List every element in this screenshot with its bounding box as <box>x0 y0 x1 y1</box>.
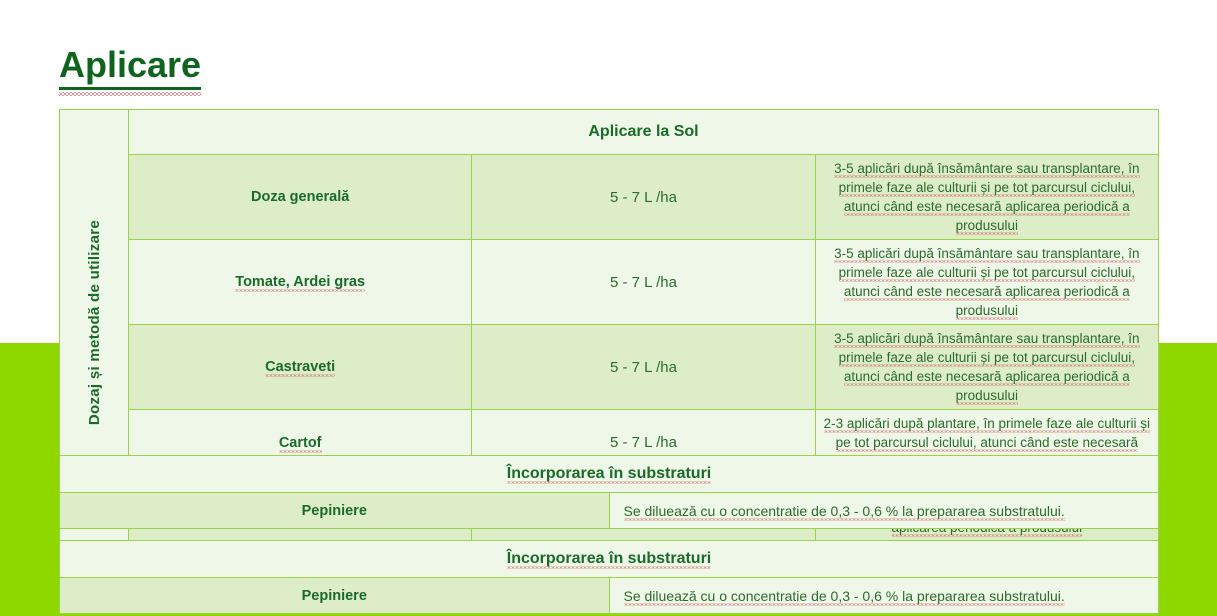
substrate-value-text: Se diluează cu o concentratie de 0,3 - 0… <box>624 588 1065 606</box>
description-cell: 3-5 aplicări după însământare sau transp… <box>815 240 1158 325</box>
substrate-value-cell-1: Se diluează cu o concentratie de 0,3 - 0… <box>609 493 1159 529</box>
crop-name-cell: Doza generală <box>129 155 472 240</box>
dose-cell: 5 - 7 L /ha <box>472 155 815 240</box>
table-row: Castraveti 5 - 7 L /ha 3-5 aplicări după… <box>60 325 1159 410</box>
table-row: Încorporarea în substraturi <box>60 456 1159 493</box>
description-text: 3-5 aplicări după însământare sau transp… <box>834 161 1139 235</box>
section-header-aplicare-la-sol: Aplicare la Sol <box>129 110 1159 155</box>
substrate-header-label: Încorporarea în substraturi <box>507 465 712 484</box>
crop-label: Doza generală <box>251 189 349 205</box>
dose-cell: 5 - 7 L /ha <box>472 325 815 410</box>
table-row: Tomate, Ardei gras 5 - 7 L /ha 3-5 aplic… <box>60 240 1159 325</box>
spellcheck-squiggle-title <box>59 92 201 96</box>
description-text: 3-5 aplicări după însământare sau transp… <box>834 246 1139 320</box>
description-cell: 3-5 aplicări după însământare sau transp… <box>815 325 1158 410</box>
description-cell: 3-5 aplicări după însământare sau transp… <box>815 155 1158 240</box>
table-row: Pepiniere Se diluează cu o concentratie … <box>60 578 1159 614</box>
dose-cell: 5 - 7 L /ha <box>472 240 815 325</box>
substrate-header-2: Încorporarea în substraturi <box>60 541 1159 578</box>
substrate-label-cell-1: Pepiniere <box>60 493 610 529</box>
table-row: Pepiniere Se diluează cu o concentratie … <box>60 493 1159 529</box>
substrate-header-label: Încorporarea în substraturi <box>507 550 712 569</box>
description-text: 3-5 aplicări după însământare sau transp… <box>834 331 1139 405</box>
crop-label: Castraveti <box>265 359 335 377</box>
substrate-header-1: Încorporarea în substraturi <box>60 456 1159 493</box>
substrate-table-2: Încorporarea în substraturi Pepiniere Se… <box>59 540 1159 614</box>
substrate-label-cell-2: Pepiniere <box>60 578 610 614</box>
substrate-table-1: Încorporarea în substraturi Pepiniere Se… <box>59 455 1159 529</box>
crop-label: Tomate, Ardei gras <box>235 274 365 292</box>
substrate-value-text: Se diluează cu o concentratie de 0,3 - 0… <box>624 503 1065 521</box>
table-row: Încorporarea în substraturi <box>60 541 1159 578</box>
crop-label: Cartof <box>279 435 322 453</box>
vertical-header-label: Dozaj și metodă de utilizare <box>86 220 103 425</box>
table-row: Doza generală 5 - 7 L /ha 3-5 aplicări d… <box>60 155 1159 240</box>
crop-name-cell: Castraveti <box>129 325 472 410</box>
page-title-wrapper: Aplicare <box>59 44 201 90</box>
substrate-value-cell-2: Se diluează cu o concentratie de 0,3 - 0… <box>609 578 1159 614</box>
table-row: Dozaj și metodă de utilizare Aplicare la… <box>60 110 1159 155</box>
page-title: Aplicare <box>59 44 201 90</box>
crop-name-cell: Tomate, Ardei gras <box>129 240 472 325</box>
